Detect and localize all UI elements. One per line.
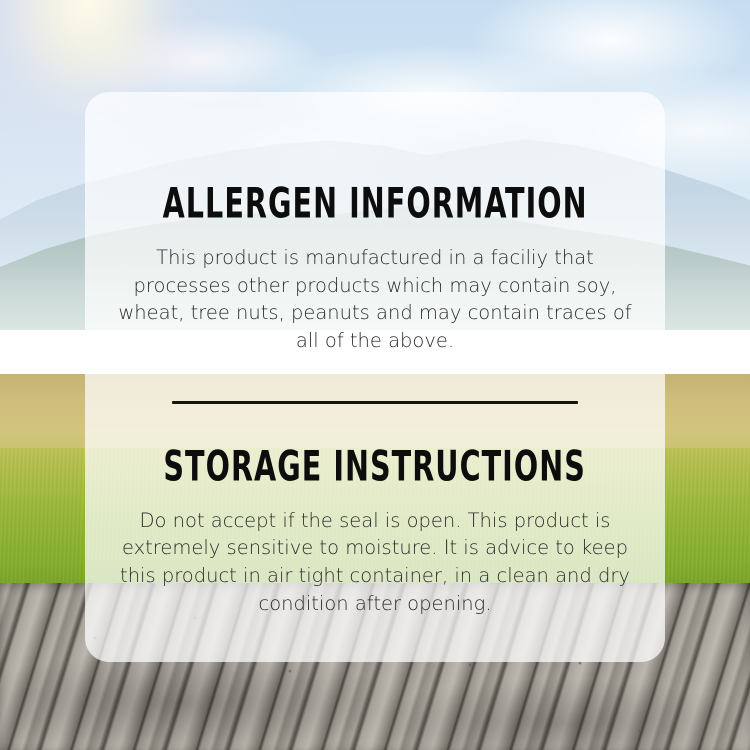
allergen-information-heading: ALLERGEN INFORMATION xyxy=(162,183,587,224)
info-card: ALLERGEN INFORMATION This product is man… xyxy=(85,92,665,662)
allergen-information-body: This product is manufactured in a facili… xyxy=(110,244,640,355)
section-divider xyxy=(172,401,578,404)
label-graphic: ALLERGEN INFORMATION This product is man… xyxy=(0,0,750,750)
info-card-content: ALLERGEN INFORMATION This product is man… xyxy=(85,92,665,662)
storage-instructions-heading: STORAGE INSTRUCTIONS xyxy=(164,446,586,487)
storage-instructions-body: Do not accept if the seal is open. This … xyxy=(110,507,640,618)
